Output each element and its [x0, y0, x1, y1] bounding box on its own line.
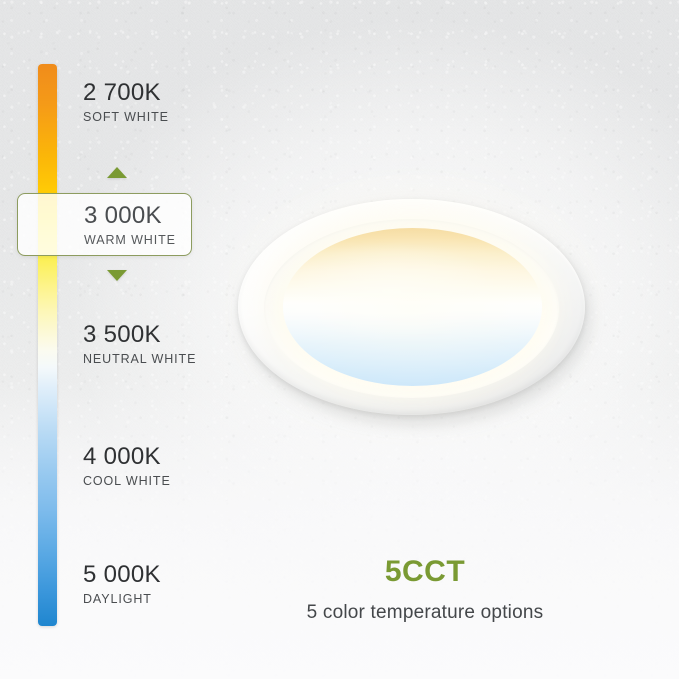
- fixture-lens-gloss: [283, 228, 542, 386]
- cct-option-temp: 5 000K: [83, 562, 161, 587]
- cct-option-temp: 4 000K: [83, 444, 171, 469]
- cct-option-temp: 2 700K: [83, 80, 169, 105]
- cct-option-temp: 3 500K: [83, 322, 196, 347]
- caption-block: 5CCT 5 color temperature options: [200, 555, 650, 624]
- caption-title: 5CCT: [200, 555, 650, 588]
- cct-option-name: WARM WHITE: [84, 233, 176, 247]
- cct-option-name: DAYLIGHT: [83, 592, 161, 606]
- led-downlight-fixture: [238, 199, 591, 426]
- cct-option-name: NEUTRAL WHITE: [83, 352, 196, 366]
- caption-subtitle: 5 color temperature options: [200, 602, 650, 624]
- cct-option-name: COOL WHITE: [83, 474, 171, 488]
- color-temperature-gradient-bar[interactable]: [38, 64, 57, 626]
- product-feature-graphic: 2 700K SOFT WHITE 3 000K WARM WHITE 3 50…: [0, 0, 679, 679]
- cct-option-4000k[interactable]: 4 000K COOL WHITE: [83, 444, 171, 488]
- triangle-up-icon[interactable]: [107, 167, 127, 178]
- cct-option-3500k[interactable]: 3 500K NEUTRAL WHITE: [83, 322, 196, 366]
- cct-option-temp: 3 000K: [84, 203, 176, 228]
- cct-option-2700k[interactable]: 2 700K SOFT WHITE: [83, 80, 169, 124]
- cct-option-name: SOFT WHITE: [83, 110, 169, 124]
- cct-option-3000k-selected[interactable]: 3 000K WARM WHITE: [17, 193, 192, 256]
- cct-option-5000k[interactable]: 5 000K DAYLIGHT: [83, 562, 161, 606]
- triangle-down-icon[interactable]: [107, 270, 127, 281]
